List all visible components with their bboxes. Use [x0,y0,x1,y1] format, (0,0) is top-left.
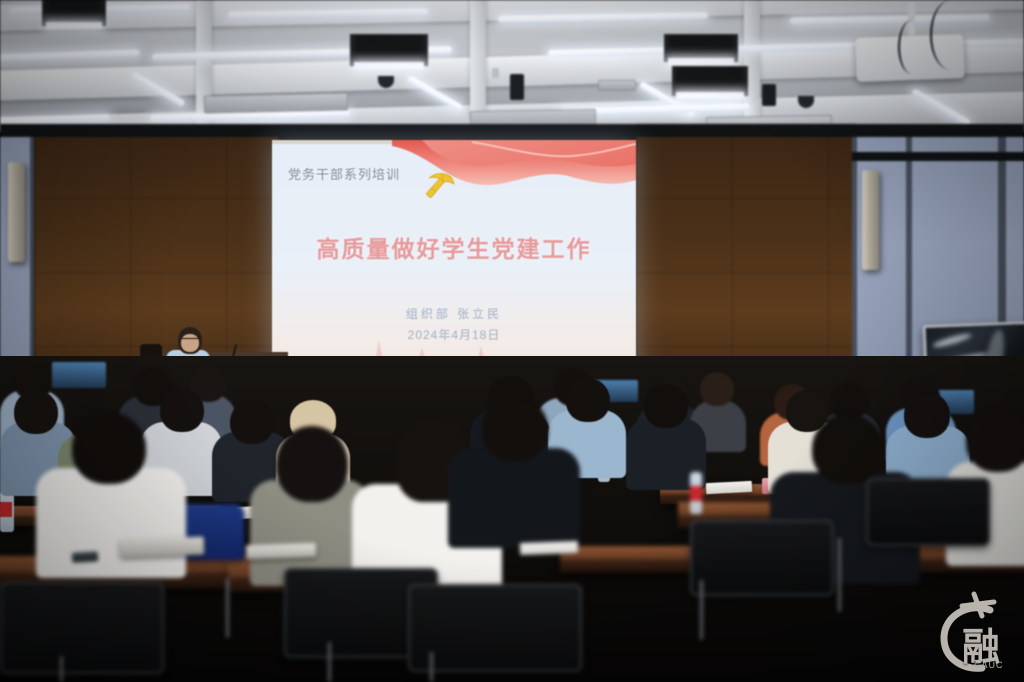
chair-leg [226,578,229,638]
wall-trim [852,152,1024,161]
recessed-light-fixture [664,34,738,62]
chair[interactable] [866,478,990,546]
notebook [246,543,316,559]
slide-title: 高质量做好学生党建工作 [272,230,636,264]
paper-sheet [520,541,578,555]
attendee-head [482,396,548,462]
chair[interactable] [690,520,834,596]
notebook [120,537,205,558]
ceiling [0,0,1024,132]
attendee-head [700,372,734,406]
chair-leg [60,656,63,682]
seated-presenter-face [181,334,199,352]
projector-cable [898,20,926,74]
attendee-torso [448,448,580,548]
attendee-head [160,388,204,432]
attendee-head [644,384,688,428]
ceiling-air-vent [204,92,348,113]
photo-scene: 党务干部系列培训 高质量做好学生党建工作 组织部 张立民 2024年4月18日 [0,0,1024,682]
chair-leg [430,652,433,682]
audience-area [0,356,1024,682]
attendee-head [966,408,1024,472]
attendee-head [14,390,58,434]
attendee-torso [36,468,186,578]
chair[interactable] [408,584,582,672]
screen-glare [932,331,972,349]
attendee-head [276,426,348,502]
water-bottle [690,472,702,514]
eyeglasses-icon [181,338,199,343]
ceiling-mount [492,68,499,78]
chair[interactable] [0,582,164,674]
attendee-head [230,400,274,444]
chair-leg [328,642,331,682]
watermark-subtitle: CAUC [974,660,1004,670]
attendee-head [904,392,950,438]
wall-trim [0,124,1024,137]
recessed-light-fixture [42,0,106,26]
attendee-head [72,412,146,484]
attendee-laptop [52,362,106,388]
column-loudspeaker [8,162,25,262]
ceiling-speaker [762,84,776,106]
cpc-hammer-sickle-emblem [422,166,462,200]
chair-leg [700,580,703,640]
ceiling-light [0,49,140,61]
ceiling-beam [470,0,486,114]
chair-leg [838,538,841,612]
ceiling-air-vent [598,80,636,91]
attendee-head [566,378,610,422]
column-loudspeaker [862,170,879,270]
recessed-light-fixture [350,34,428,66]
slide-kicker-text: 党务干部系列培训 [288,164,400,183]
watermark-logo: 融 CAUC [932,590,1014,676]
smartphone [72,551,98,562]
slide-presenter: 组织部 张立民 [272,305,636,322]
recessed-light-fixture [672,66,748,96]
attendee-head [812,414,884,484]
ceiling-speaker [510,74,524,100]
projector-cable [930,0,972,70]
